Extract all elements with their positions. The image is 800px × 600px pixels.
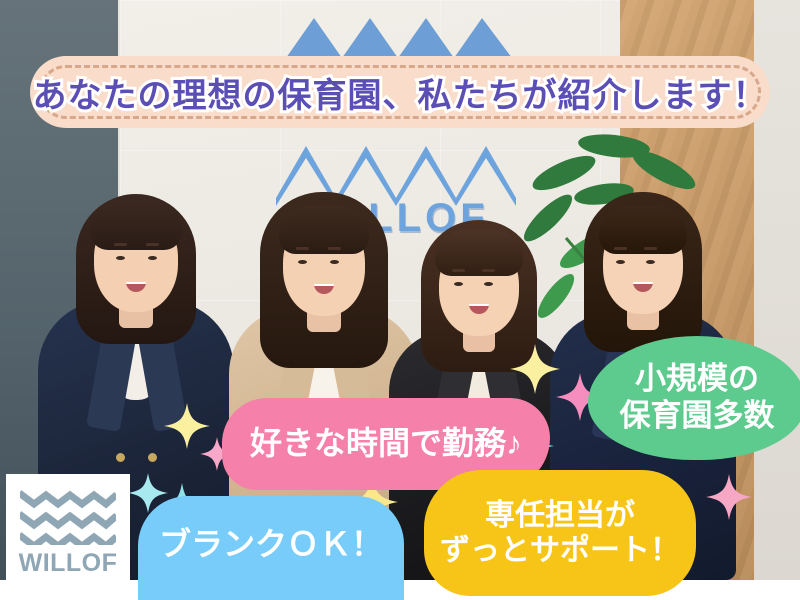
person-2-brow-l — [296, 247, 309, 250]
yellow-bubble-text: 専任担当が ずっとサポート！ — [440, 498, 680, 569]
person-2-eye-l — [298, 260, 307, 264]
person-2-brow-r — [328, 247, 341, 250]
willof-logo-badge: WILLOF — [6, 474, 130, 592]
person-4-eye-r — [646, 260, 655, 264]
person-2-eye-r — [330, 260, 339, 264]
headline-text: あなたの理想の保育園、私たちが紹介します！ — [33, 68, 768, 117]
person-3-fringe — [435, 230, 523, 276]
person-2-fringe — [279, 206, 369, 254]
person-1-fringe — [90, 200, 182, 250]
person-1-button-a — [116, 453, 125, 462]
poster-root: WILLOF — [0, 0, 800, 600]
person-3-brow-l — [452, 269, 465, 272]
person-1-eye-l — [116, 256, 125, 260]
person-1-brow-r — [146, 243, 159, 246]
person-1-brow-l — [114, 243, 127, 246]
person-1-button-b — [148, 453, 157, 462]
wall-zigzag-top-icon — [286, 12, 512, 58]
willof-wordmark: WILLOF — [19, 549, 118, 578]
blue-bubble-text: ブランクＯＫ！ — [159, 526, 383, 564]
green-bubble-text: 小規模の 保育園多数 — [620, 361, 775, 434]
sparkle-yellow-mid-icon — [510, 338, 560, 400]
yellow-bubble[interactable]: 専任担当が ずっとサポート！ — [424, 470, 696, 596]
green-bubble[interactable]: 小規模の 保育園多数 — [588, 336, 800, 460]
person-4-brow-l — [614, 247, 627, 250]
person-3-eye-l — [454, 282, 463, 286]
person-1-eye-r — [148, 256, 157, 260]
headline-banner: あなたの理想の保育園、私たちが紹介します！ — [30, 56, 770, 128]
blue-bubble[interactable]: ブランクＯＫ！ — [138, 496, 404, 600]
person-4-brow-r — [644, 247, 657, 250]
person-3-eye-r — [484, 282, 493, 286]
sparkle-pink-right-icon — [706, 468, 752, 526]
person-3-brow-r — [482, 269, 495, 272]
willof-zigzag-icon — [20, 489, 116, 545]
pink-bubble-text: 好きな時間で勤務♪ — [250, 425, 522, 463]
person-4-eye-l — [616, 260, 625, 264]
person-4-fringe — [599, 206, 687, 254]
